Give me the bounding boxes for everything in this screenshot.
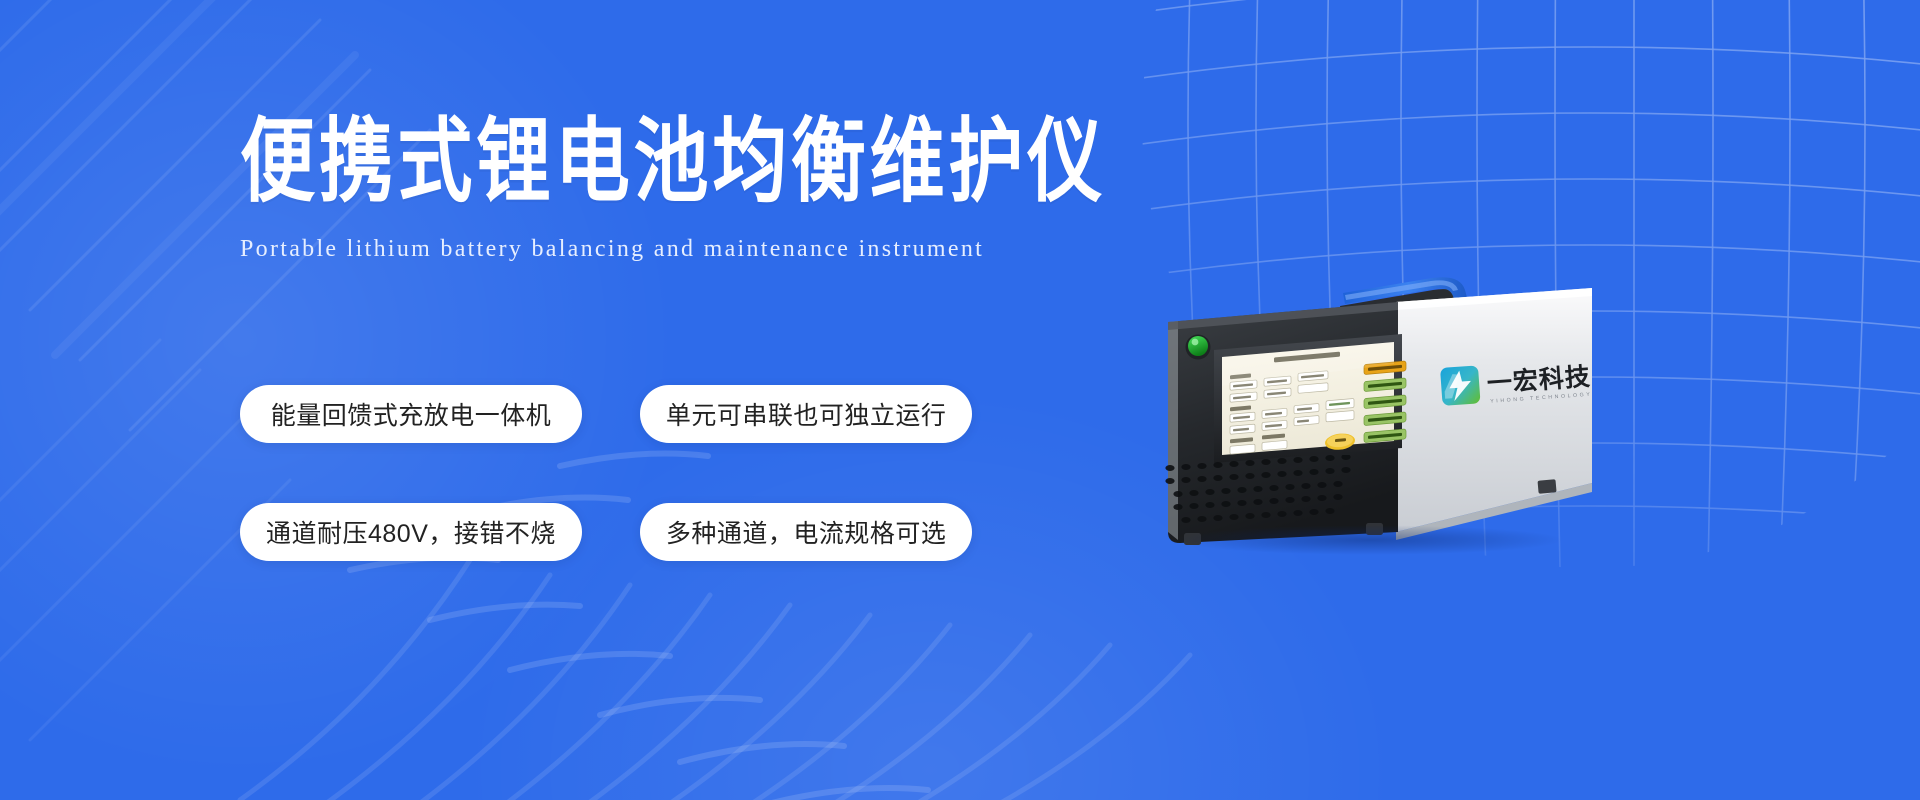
headline-block: 便携式锂电池均衡维护仪 Portable lithium battery bal…	[240, 108, 1140, 264]
feature-pill[interactable]: 多种通道，电流规格可选	[640, 503, 973, 561]
power-button	[1186, 335, 1211, 360]
device-shadow	[1175, 525, 1565, 555]
feature-pill-label: 通道耐压480V，接错不烧	[266, 514, 556, 550]
page-title: 便携式锂电池均衡维护仪	[240, 108, 1104, 217]
product-device-image: 一宏科技 YIHONG TECHNOLOGY	[1140, 240, 1610, 580]
page-subtitle: Portable lithium battery balancing and m…	[240, 234, 1140, 264]
feature-pill[interactable]: 能量回馈式充放电一体机	[240, 385, 582, 443]
feature-pill-list: 能量回馈式充放电一体机 单元可串联也可独立运行 通道耐压480V，接错不烧 多种…	[240, 385, 940, 561]
feature-pill-label: 能量回馈式充放电一体机	[271, 396, 552, 432]
feature-pill-label: 多种通道，电流规格可选	[666, 514, 947, 550]
brand-logo	[1440, 365, 1481, 406]
promo-banner: 便携式锂电池均衡维护仪 Portable lithium battery bal…	[0, 0, 1920, 800]
feature-pill[interactable]: 通道耐压480V，接错不烧	[240, 503, 582, 561]
feature-pill[interactable]: 单元可串联也可独立运行	[640, 385, 973, 443]
feature-pill-label: 单元可串联也可独立运行	[666, 396, 947, 432]
brand-text: 一宏科技 YIHONG TECHNOLOGY	[1486, 362, 1593, 405]
